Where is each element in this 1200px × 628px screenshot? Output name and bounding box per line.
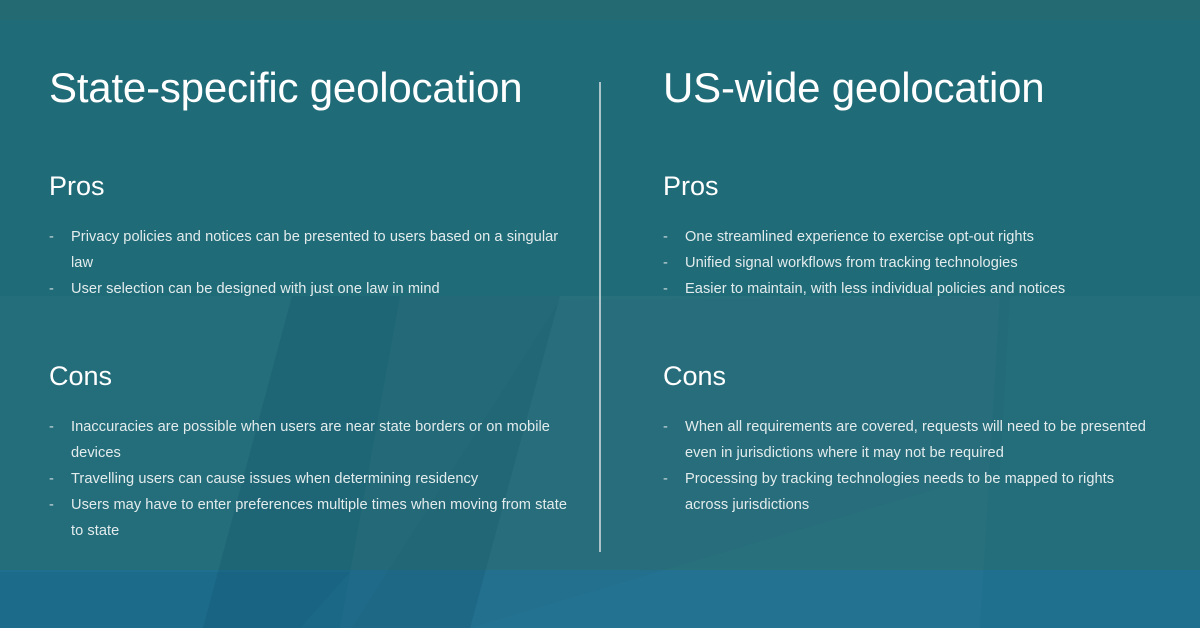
bullet-list-cons-right: - When all requirements are covered, req… [663, 414, 1200, 518]
column-state-specific: State-specific geolocation Pros - Privac… [0, 0, 600, 628]
list-item-text: Travelling users can cause issues when d… [71, 471, 478, 487]
section-pros-right: Pros - One streamlined experience to exe… [663, 170, 1200, 302]
column-title-left: State-specific geolocation [49, 62, 600, 114]
bullet-dash-icon: - [49, 224, 54, 250]
vertical-divider [599, 82, 601, 552]
list-item-text: Unified signal workflows from tracking t… [685, 255, 1018, 271]
section-pros-left: Pros - Privacy policies and notices can … [49, 170, 600, 302]
bullet-dash-icon: - [663, 250, 668, 276]
bullet-list-cons-left: - Inaccuracies are possible when users a… [49, 414, 600, 544]
list-item: - Inaccuracies are possible when users a… [49, 414, 571, 466]
bullet-dash-icon: - [49, 414, 54, 440]
section-heading-pros-right: Pros [663, 170, 1200, 202]
list-item-text: Processing by tracking technologies need… [685, 471, 1114, 513]
bullet-dash-icon: - [663, 466, 668, 492]
bullet-dash-icon: - [663, 224, 668, 250]
list-item-text: User selection can be designed with just… [71, 281, 440, 297]
section-heading-cons-left: Cons [49, 360, 600, 392]
bullet-dash-icon: - [49, 276, 54, 302]
list-item: - Privacy policies and notices can be pr… [49, 224, 571, 276]
list-item-text: Users may have to enter preferences mult… [71, 497, 567, 539]
list-item: - Travelling users can cause issues when… [49, 466, 571, 492]
list-item: - When all requirements are covered, req… [663, 414, 1155, 466]
bullet-list-pros-right: - One streamlined experience to exercise… [663, 224, 1200, 302]
list-item: - Easier to maintain, with less individu… [663, 276, 1155, 302]
column-title-right: US-wide geolocation [663, 62, 1200, 114]
bullet-dash-icon: - [49, 492, 54, 518]
list-item: - Unified signal workflows from tracking… [663, 250, 1155, 276]
bullet-dash-icon: - [49, 466, 54, 492]
list-item: - User selection can be designed with ju… [49, 276, 571, 302]
list-item-text: One streamlined experience to exercise o… [685, 229, 1034, 245]
list-item: - Users may have to enter preferences mu… [49, 492, 571, 544]
bullet-dash-icon: - [663, 276, 668, 302]
section-heading-cons-right: Cons [663, 360, 1200, 392]
list-item-text: When all requirements are covered, reque… [685, 419, 1146, 461]
list-item-text: Privacy policies and notices can be pres… [71, 229, 558, 271]
list-item: - Processing by tracking technologies ne… [663, 466, 1155, 518]
list-item-text: Easier to maintain, with less individual… [685, 281, 1065, 297]
list-item: - One streamlined experience to exercise… [663, 224, 1155, 250]
column-us-wide: US-wide geolocation Pros - One streamlin… [600, 0, 1200, 628]
section-cons-left: Cons - Inaccuracies are possible when us… [49, 360, 600, 544]
bullet-dash-icon: - [663, 414, 668, 440]
list-item-text: Inaccuracies are possible when users are… [71, 419, 550, 461]
comparison-slide: State-specific geolocation Pros - Privac… [0, 0, 1200, 628]
bullet-list-pros-left: - Privacy policies and notices can be pr… [49, 224, 600, 302]
section-cons-right: Cons - When all requirements are covered… [663, 360, 1200, 518]
section-heading-pros-left: Pros [49, 170, 600, 202]
